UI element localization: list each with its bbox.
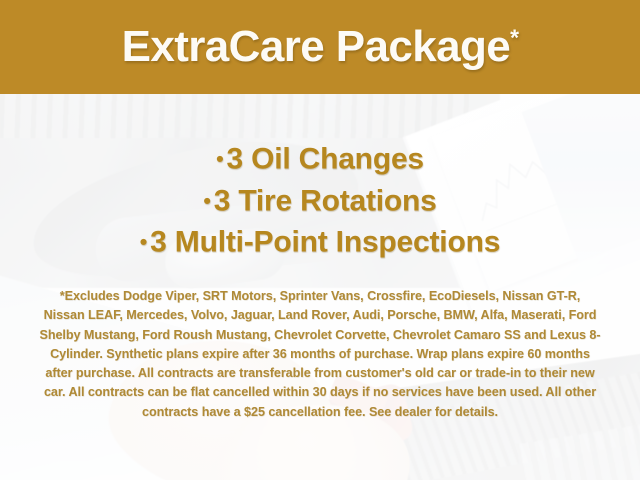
benefit-label: 3 Tire Rotations [214,184,437,217]
bullet-dot-icon: • [203,188,213,213]
page-title-text: ExtraCare Package [122,22,511,71]
page-title: ExtraCare Package* [122,25,519,69]
benefit-label: 3 Oil Changes [226,143,423,176]
disclaimer-text: *Excludes Dodge Viper, SRT Motors, Sprin… [38,287,602,422]
page-title-asterisk: * [510,24,518,50]
list-item: •3 Tire Rotations [0,180,640,222]
benefit-label: 3 Multi-Point Inspections [150,226,500,259]
list-item: •3 Oil Changes [0,138,640,180]
extracare-package-ad: ExtraCare Package* •3 Oil Changes •3 Tir… [0,0,640,480]
bullet-dot-icon: • [216,146,226,171]
bullet-dot-icon: • [140,229,150,254]
list-item: •3 Multi-Point Inspections [0,221,640,263]
benefits-list: •3 Oil Changes •3 Tire Rotations •3 Mult… [0,138,640,263]
header-band: ExtraCare Package* [0,0,640,94]
